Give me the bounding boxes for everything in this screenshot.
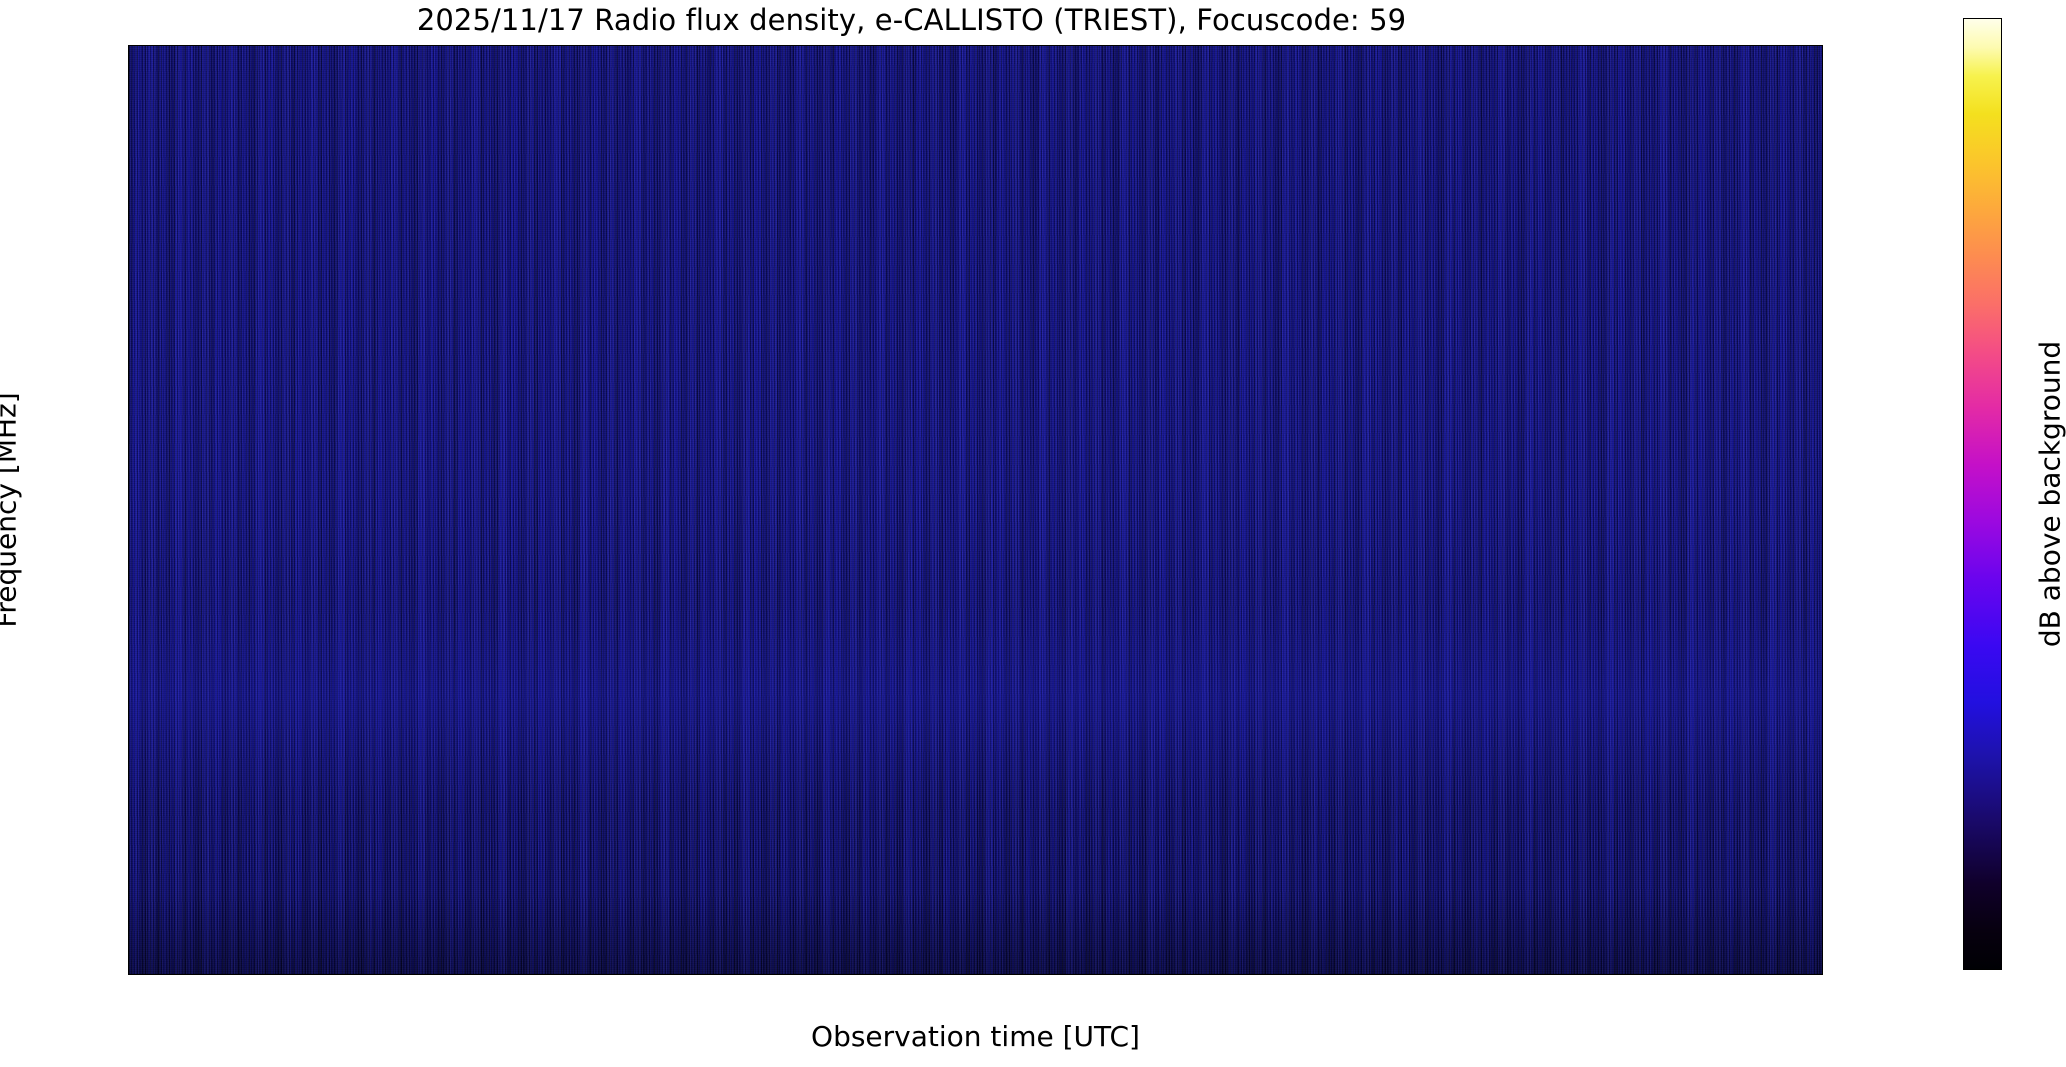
y-axis-tick [128, 568, 129, 569]
y-axis-tick [128, 208, 129, 209]
x-axis-tick [1542, 974, 1543, 975]
spectrogram-band-feature [129, 603, 1822, 807]
x-axis-tick [1090, 974, 1091, 975]
colorbar-tick [2001, 622, 2002, 623]
x-axis-tick [525, 974, 526, 975]
x-axis-label: Observation time [UTC] [128, 1020, 1823, 1053]
y-axis-tick [128, 328, 129, 329]
y-axis-tick [128, 808, 129, 809]
x-axis-tick [412, 974, 413, 975]
colorbar-tick [2001, 728, 2002, 729]
x-axis-tick [299, 974, 300, 975]
x-axis-tick [1429, 974, 1430, 975]
y-axis-tick [128, 448, 129, 449]
colorbar-gradient [1964, 19, 2001, 969]
colorbar-tick [2001, 93, 2002, 94]
x-axis-tick [1655, 974, 1656, 975]
y-axis-tick [128, 88, 129, 89]
colorbar-label: dB above background [2034, 341, 2066, 647]
x-axis-tick [751, 974, 752, 975]
colorbar-tick [2001, 833, 2002, 834]
colorbar-tick [2001, 305, 2002, 306]
colorbar-tick [2001, 410, 2002, 411]
colorbar-tick [2001, 199, 2002, 200]
x-axis-tick [638, 974, 639, 975]
spectrogram-noise-layer [129, 46, 1822, 974]
x-axis-tick [186, 974, 187, 975]
colorbar-tick [2001, 516, 2002, 517]
x-axis-tick [864, 974, 865, 975]
x-axis-tick [1203, 974, 1204, 975]
x-axis-tick [977, 974, 978, 975]
y-axis-tick [128, 928, 129, 929]
colorbar-tick [2001, 939, 2002, 940]
x-axis-tick [1316, 974, 1317, 975]
spectrogram-plot-area: 38036034032030028026024008:3008:3108:320… [128, 45, 1823, 975]
x-axis-tick [1768, 974, 1769, 975]
chart-title: 2025/11/17 Radio flux density, e-CALLIST… [0, 3, 1823, 37]
y-axis-label: Frequency [MHz] [0, 392, 23, 627]
y-axis-tick [128, 688, 129, 689]
colorbar: 14121086420−2 [1963, 18, 2002, 970]
spectrogram-low-freq-falloff [129, 890, 1822, 974]
